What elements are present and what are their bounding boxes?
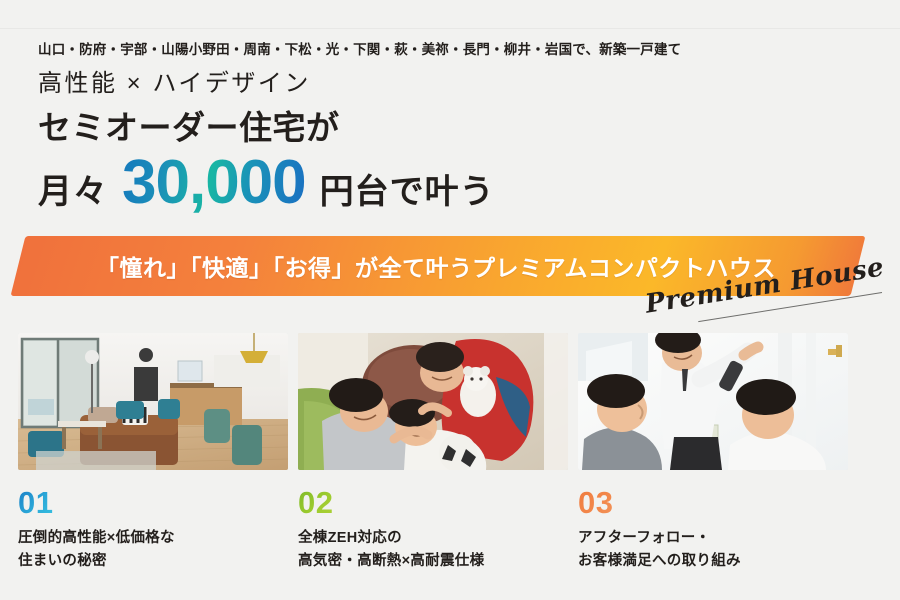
service-area-line: 山口・防府・宇部・山陽小野田・周南・下松・光・下関・萩・美祢・長門・柳井・岩国で…: [38, 40, 868, 60]
card-number: 01: [18, 486, 53, 520]
top-divider: [0, 28, 900, 29]
card-number: 03: [578, 486, 613, 520]
price-row: 月々 30,000 円台で叶う: [38, 152, 495, 214]
card-caption: アフターフォロー・ お客様満足への取り組み: [578, 527, 848, 573]
price-amount: 30,000: [122, 152, 306, 214]
promo-banner: 「憧れ」「快適」「お得」が全て叶うプレミアムコンパクトハウス Premium H…: [0, 236, 900, 308]
feature-card-list: 01 圧倒的高性能×低価格な 住まいの秘密: [18, 333, 848, 573]
price-suffix: 円台で叶う: [320, 164, 495, 213]
price-prefix: 月々: [38, 164, 108, 213]
card-caption-line1: 全棟ZEH対応の: [298, 527, 568, 550]
living-room-interior-photo: [18, 333, 288, 470]
hero-title: セミオーダー住宅が: [38, 106, 868, 150]
staff-consultation-photo: [578, 333, 848, 470]
card-number: 02: [298, 486, 333, 520]
card-caption-line1: 圧倒的高性能×低価格な: [18, 527, 288, 550]
feature-card[interactable]: 01 圧倒的高性能×低価格な 住まいの秘密: [18, 333, 288, 573]
hero-subtitle: 高性能 × ハイデザイン: [38, 68, 868, 100]
card-caption-line2: お客様満足への取り組み: [578, 550, 848, 573]
card-caption: 全棟ZEH対応の 高気密・高断熱×高耐震仕様: [298, 527, 568, 573]
card-caption-line2: 住まいの秘密: [18, 550, 288, 573]
card-caption-line2: 高気密・高断熱×高耐震仕様: [298, 550, 568, 573]
hero-headline-block: 山口・防府・宇部・山陽小野田・周南・下松・光・下関・萩・美祢・長門・柳井・岩国で…: [38, 40, 868, 150]
card-caption-line1: アフターフォロー・: [578, 527, 848, 550]
feature-card[interactable]: 03 アフターフォロー・ お客様満足への取り組み: [578, 333, 848, 573]
card-caption: 圧倒的高性能×低価格な 住まいの秘密: [18, 527, 288, 573]
feature-card[interactable]: 02 全棟ZEH対応の 高気密・高断熱×高耐震仕様: [298, 333, 568, 573]
family-relaxing-photo: [298, 333, 568, 470]
